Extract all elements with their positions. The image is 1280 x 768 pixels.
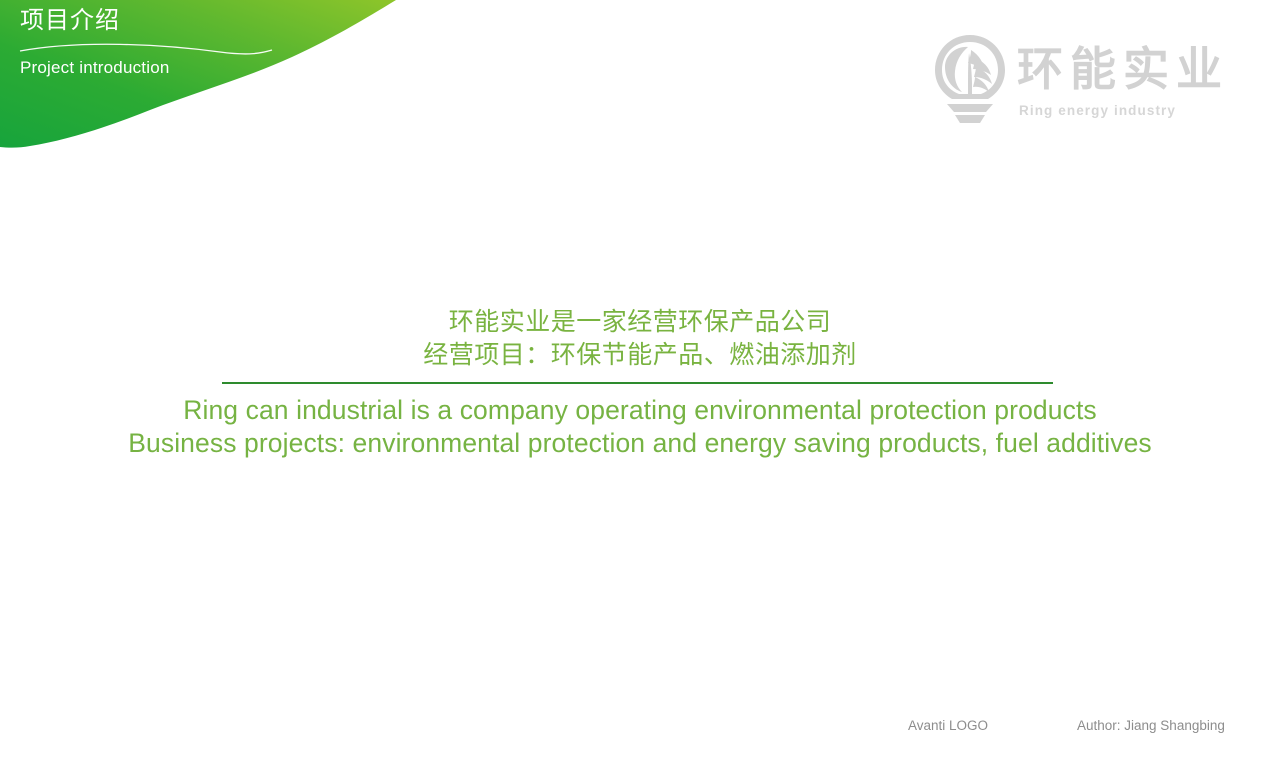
chinese-line-1: 环能实业是一家经营环保产品公司	[0, 306, 1280, 339]
leaf-bulb-emblem-icon	[931, 33, 1009, 125]
chinese-line-2: 经营项目：环保节能产品、燃油添加剂	[0, 339, 1280, 372]
slide-canvas: 项目介绍 Project introduction 环能实业 Ring ener…	[0, 0, 1280, 768]
english-line-2: Business projects: environmental protect…	[0, 427, 1280, 460]
main-content: 环能实业是一家经营环保产品公司 经营项目：环保节能产品、燃油添加剂 Ring c…	[0, 306, 1280, 460]
english-line-1: Ring can industrial is a company operati…	[0, 394, 1280, 427]
divider-wrap	[0, 372, 1280, 394]
logo-name-en: Ring energy industry	[1019, 103, 1176, 118]
header-title-en: Project introduction	[20, 58, 170, 78]
company-logo: 环能实业 Ring energy industry	[931, 33, 1231, 128]
footer-right-label: Author: Jiang Shangbing	[1077, 718, 1225, 733]
header-title-cn: 项目介绍	[20, 7, 120, 36]
logo-name-cn: 环能实业	[1017, 46, 1229, 92]
header-leaf-banner: 项目介绍 Project introduction	[0, 0, 420, 165]
green-divider-line	[222, 382, 1053, 384]
footer-left-label: Avanti LOGO	[908, 718, 988, 733]
